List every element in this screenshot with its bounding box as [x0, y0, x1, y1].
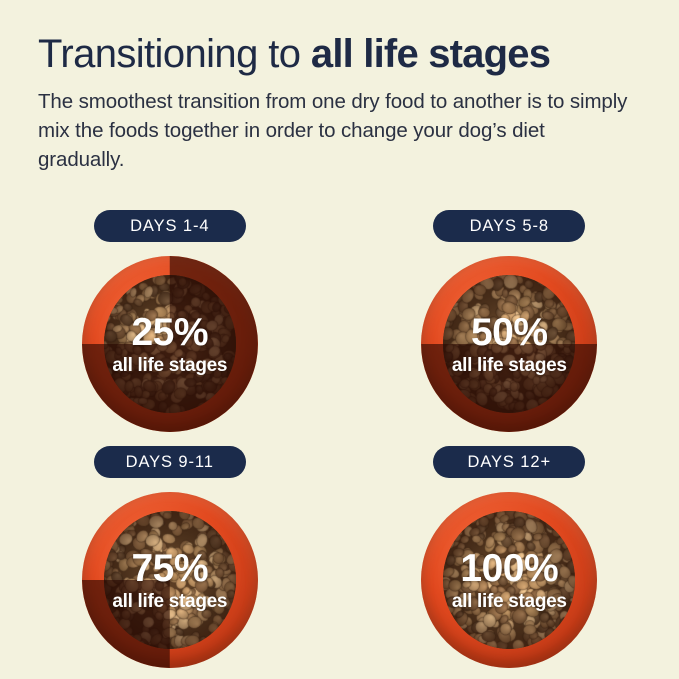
days-badge: DAYS 5-8 — [433, 210, 585, 242]
page-title-emphasis: all life stages — [311, 32, 550, 76]
transition-step: DAYS 9-11 75% all life stages — [0, 446, 340, 668]
bowl-rim — [421, 256, 597, 432]
bowl-rim — [82, 492, 258, 668]
transition-steps-grid: DAYS 1-4 25% all life stages DAYS 5-8 — [0, 210, 679, 668]
kibble-texture — [104, 275, 236, 412]
food-bowl: 100% all life stages — [421, 492, 597, 668]
page-subtitle: The smoothest transition from one dry fo… — [38, 87, 628, 174]
food-bowl: 75% all life stages — [82, 492, 258, 668]
kibble-area — [104, 511, 236, 648]
page-title: Transitioning to all life stages — [38, 32, 658, 77]
page-title-plain: Transitioning to — [38, 32, 311, 76]
infographic-page: Transitioning to all life stages The smo… — [0, 0, 679, 679]
bowl-rim — [82, 256, 258, 432]
transition-step: DAYS 12+ 100% all life stages — [340, 446, 679, 668]
kibble-texture — [443, 511, 575, 648]
kibble-area — [104, 275, 236, 412]
kibble-area — [443, 511, 575, 648]
days-badge: DAYS 9-11 — [94, 446, 246, 478]
food-bowl: 25% all life stages — [82, 256, 258, 432]
kibble-area — [443, 275, 575, 412]
days-badge: DAYS 12+ — [433, 446, 585, 478]
food-bowl: 50% all life stages — [421, 256, 597, 432]
kibble-texture — [104, 511, 236, 648]
kibble-texture — [443, 275, 575, 412]
days-badge: DAYS 1-4 — [94, 210, 246, 242]
header: Transitioning to all life stages The smo… — [38, 32, 658, 174]
transition-step: DAYS 1-4 25% all life stages — [0, 210, 340, 432]
transition-step: DAYS 5-8 50% all life stages — [340, 210, 679, 432]
bowl-rim — [421, 492, 597, 668]
